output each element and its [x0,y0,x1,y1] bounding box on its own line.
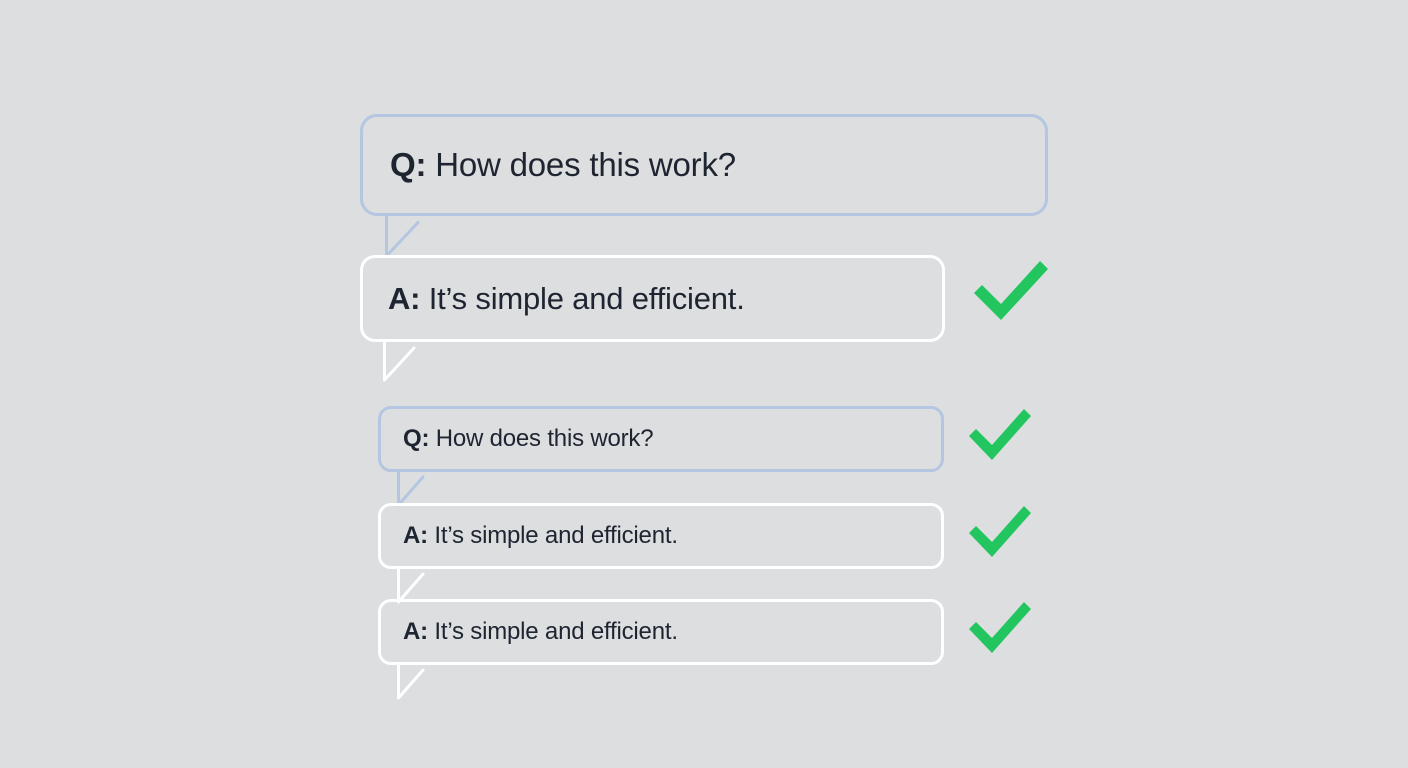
bubble-tag: Q: [403,425,429,452]
bubble-row-answer-small-1: A: It’s simple and efficient. [378,503,1034,569]
bubble-stage: Q: How does this work? A: It’s simple an… [0,0,1408,768]
bubble-text: Q: How does this work? [390,146,736,184]
bubble-body: It’s simple and efficient. [420,281,744,316]
bubble-body: It’s simple and efficient. [428,618,678,645]
bubble-text: A: It’s simple and efficient. [403,618,678,646]
bubble-text: Q: How does this work? [403,425,653,453]
speech-bubble-answer-small-1[interactable]: A: It’s simple and efficient. [378,503,944,569]
bubble-tag: Q: [390,146,426,183]
bubble-row-question-large: Q: How does this work? [360,114,1048,216]
speech-bubble-question-large[interactable]: Q: How does this work? [360,114,1048,216]
check-icon [966,599,1034,657]
bubble-text: A: It’s simple and efficient. [403,522,678,550]
bubble-body: How does this work? [426,146,736,183]
bubble-row-question-small: Q: How does this work? [378,406,1034,472]
check-icon [966,503,1034,561]
bubble-body: How does this work? [429,425,653,452]
check-icon [970,257,1052,325]
bubble-tag: A: [388,281,420,316]
bubble-tail-icon [383,342,425,390]
speech-bubble-answer-large[interactable]: A: It’s simple and efficient. [360,255,945,342]
bubble-tag: A: [403,618,428,645]
bubble-tail-icon [397,665,433,707]
speech-bubble-question-small[interactable]: Q: How does this work? [378,406,944,472]
bubble-text: A: It’s simple and efficient. [388,281,745,317]
check-icon [966,406,1034,464]
bubble-tag: A: [403,522,428,549]
speech-bubble-answer-small-2[interactable]: A: It’s simple and efficient. [378,599,944,665]
bubble-row-answer-small-2: A: It’s simple and efficient. [378,599,1034,665]
bubble-body: It’s simple and efficient. [428,522,678,549]
bubble-row-answer-large: A: It’s simple and efficient. [360,255,1052,342]
